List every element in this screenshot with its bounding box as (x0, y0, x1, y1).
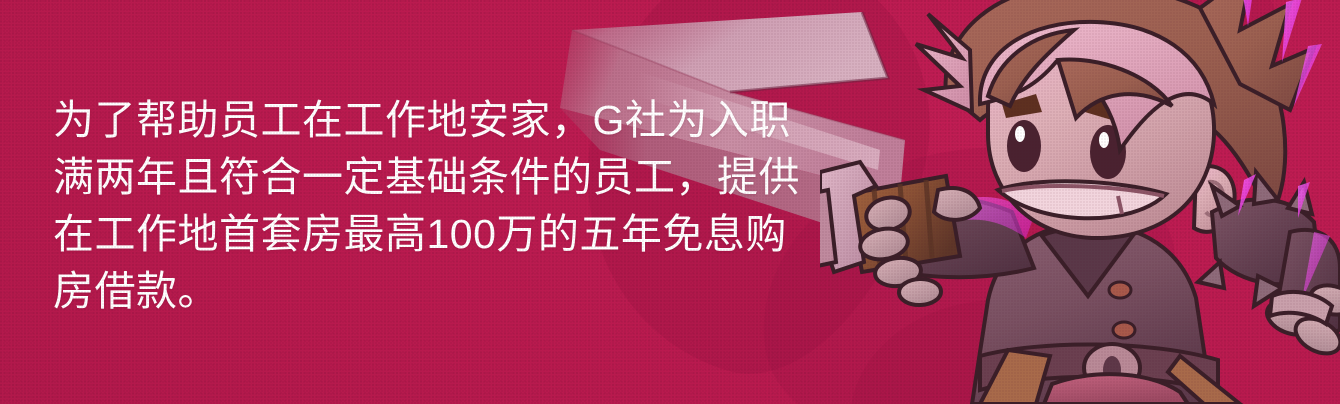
headline-line-1: 为了帮助员工在工作地安家，G社为入职 (53, 92, 813, 149)
headline-line-4: 房借款。 (53, 263, 813, 320)
chibi-swordsman-icon (820, 0, 1340, 404)
character-illustration (820, 0, 1340, 404)
headline-copy: 为了帮助员工在工作地安家，G社为入职 满两年且符合一定基础条件的员工，提供 在工… (53, 92, 813, 320)
promo-banner: 为了帮助员工在工作地安家，G社为入职 满两年且符合一定基础条件的员工，提供 在工… (0, 0, 1340, 404)
headline-line-3: 在工作地首套房最高100万的五年免息购 (53, 206, 813, 263)
headline-line-2: 满两年且符合一定基础条件的员工，提供 (53, 149, 813, 206)
